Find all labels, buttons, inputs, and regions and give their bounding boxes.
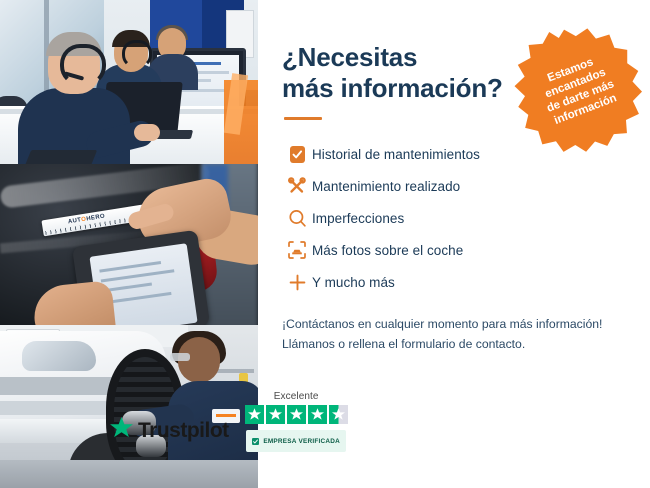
trustpilot-wordmark: Trustpilot bbox=[138, 419, 229, 443]
star-1 bbox=[245, 405, 264, 424]
contact-line-1: ¡Contáctanos en cualquier momento para m… bbox=[282, 314, 622, 334]
plus-icon bbox=[282, 273, 312, 292]
verified-label: EMPRESA VERIFICADA bbox=[263, 438, 340, 445]
feature-item-mas: Y mucho más bbox=[282, 266, 624, 298]
contact-text: ¡Contáctanos en cualquier momento para m… bbox=[282, 314, 622, 354]
verified-check-icon bbox=[252, 432, 259, 450]
page-title: ¿Necesitas más información? bbox=[282, 42, 522, 103]
info-promo-card: AUTOHERO ¿ bbox=[0, 0, 650, 488]
feature-label: Más fotos sobre el coche bbox=[312, 243, 463, 258]
star-5-half bbox=[329, 405, 348, 424]
car-inspection-ruler-photo: AUTOHERO bbox=[0, 164, 258, 325]
car-scan-icon bbox=[282, 240, 312, 260]
contact-line-2: Llámanos o rellena el formulario de cont… bbox=[282, 334, 622, 354]
verified-business-badge: EMPRESA VERIFICADA bbox=[246, 430, 346, 452]
feature-label: Y mucho más bbox=[312, 275, 395, 290]
page-title-line-2: más información? bbox=[282, 73, 503, 103]
feature-label: Historial de mantenimientos bbox=[312, 147, 480, 162]
trustpilot-star-icon bbox=[110, 417, 133, 444]
feature-item-mantenimiento: Mantenimiento realizado bbox=[282, 170, 624, 202]
rating-label: Excelente bbox=[274, 391, 319, 402]
feature-list: Historial de mantenimientos Mantenimient… bbox=[282, 138, 624, 298]
magnifier-icon bbox=[282, 209, 312, 228]
trustpilot-rating: Excelente bbox=[245, 391, 348, 452]
checklist-icon bbox=[282, 145, 312, 164]
star-2 bbox=[266, 405, 285, 424]
feature-item-imperfecciones: Imperfecciones bbox=[282, 202, 624, 234]
star-4 bbox=[308, 405, 327, 424]
feature-item-fotos: Más fotos sobre el coche bbox=[282, 234, 624, 266]
feature-label: Mantenimiento realizado bbox=[312, 179, 460, 194]
title-divider bbox=[284, 117, 322, 120]
star-3 bbox=[287, 405, 306, 424]
call-center-agents-photo bbox=[0, 0, 258, 164]
trustpilot-logo: Trustpilot bbox=[110, 417, 229, 452]
tools-icon bbox=[282, 176, 312, 196]
page-title-line-1: ¿Necesitas bbox=[282, 42, 417, 72]
feature-label: Imperfecciones bbox=[312, 211, 404, 226]
trustpilot-widget[interactable]: Trustpilot Excelente bbox=[110, 391, 348, 452]
star-rating bbox=[245, 405, 348, 424]
